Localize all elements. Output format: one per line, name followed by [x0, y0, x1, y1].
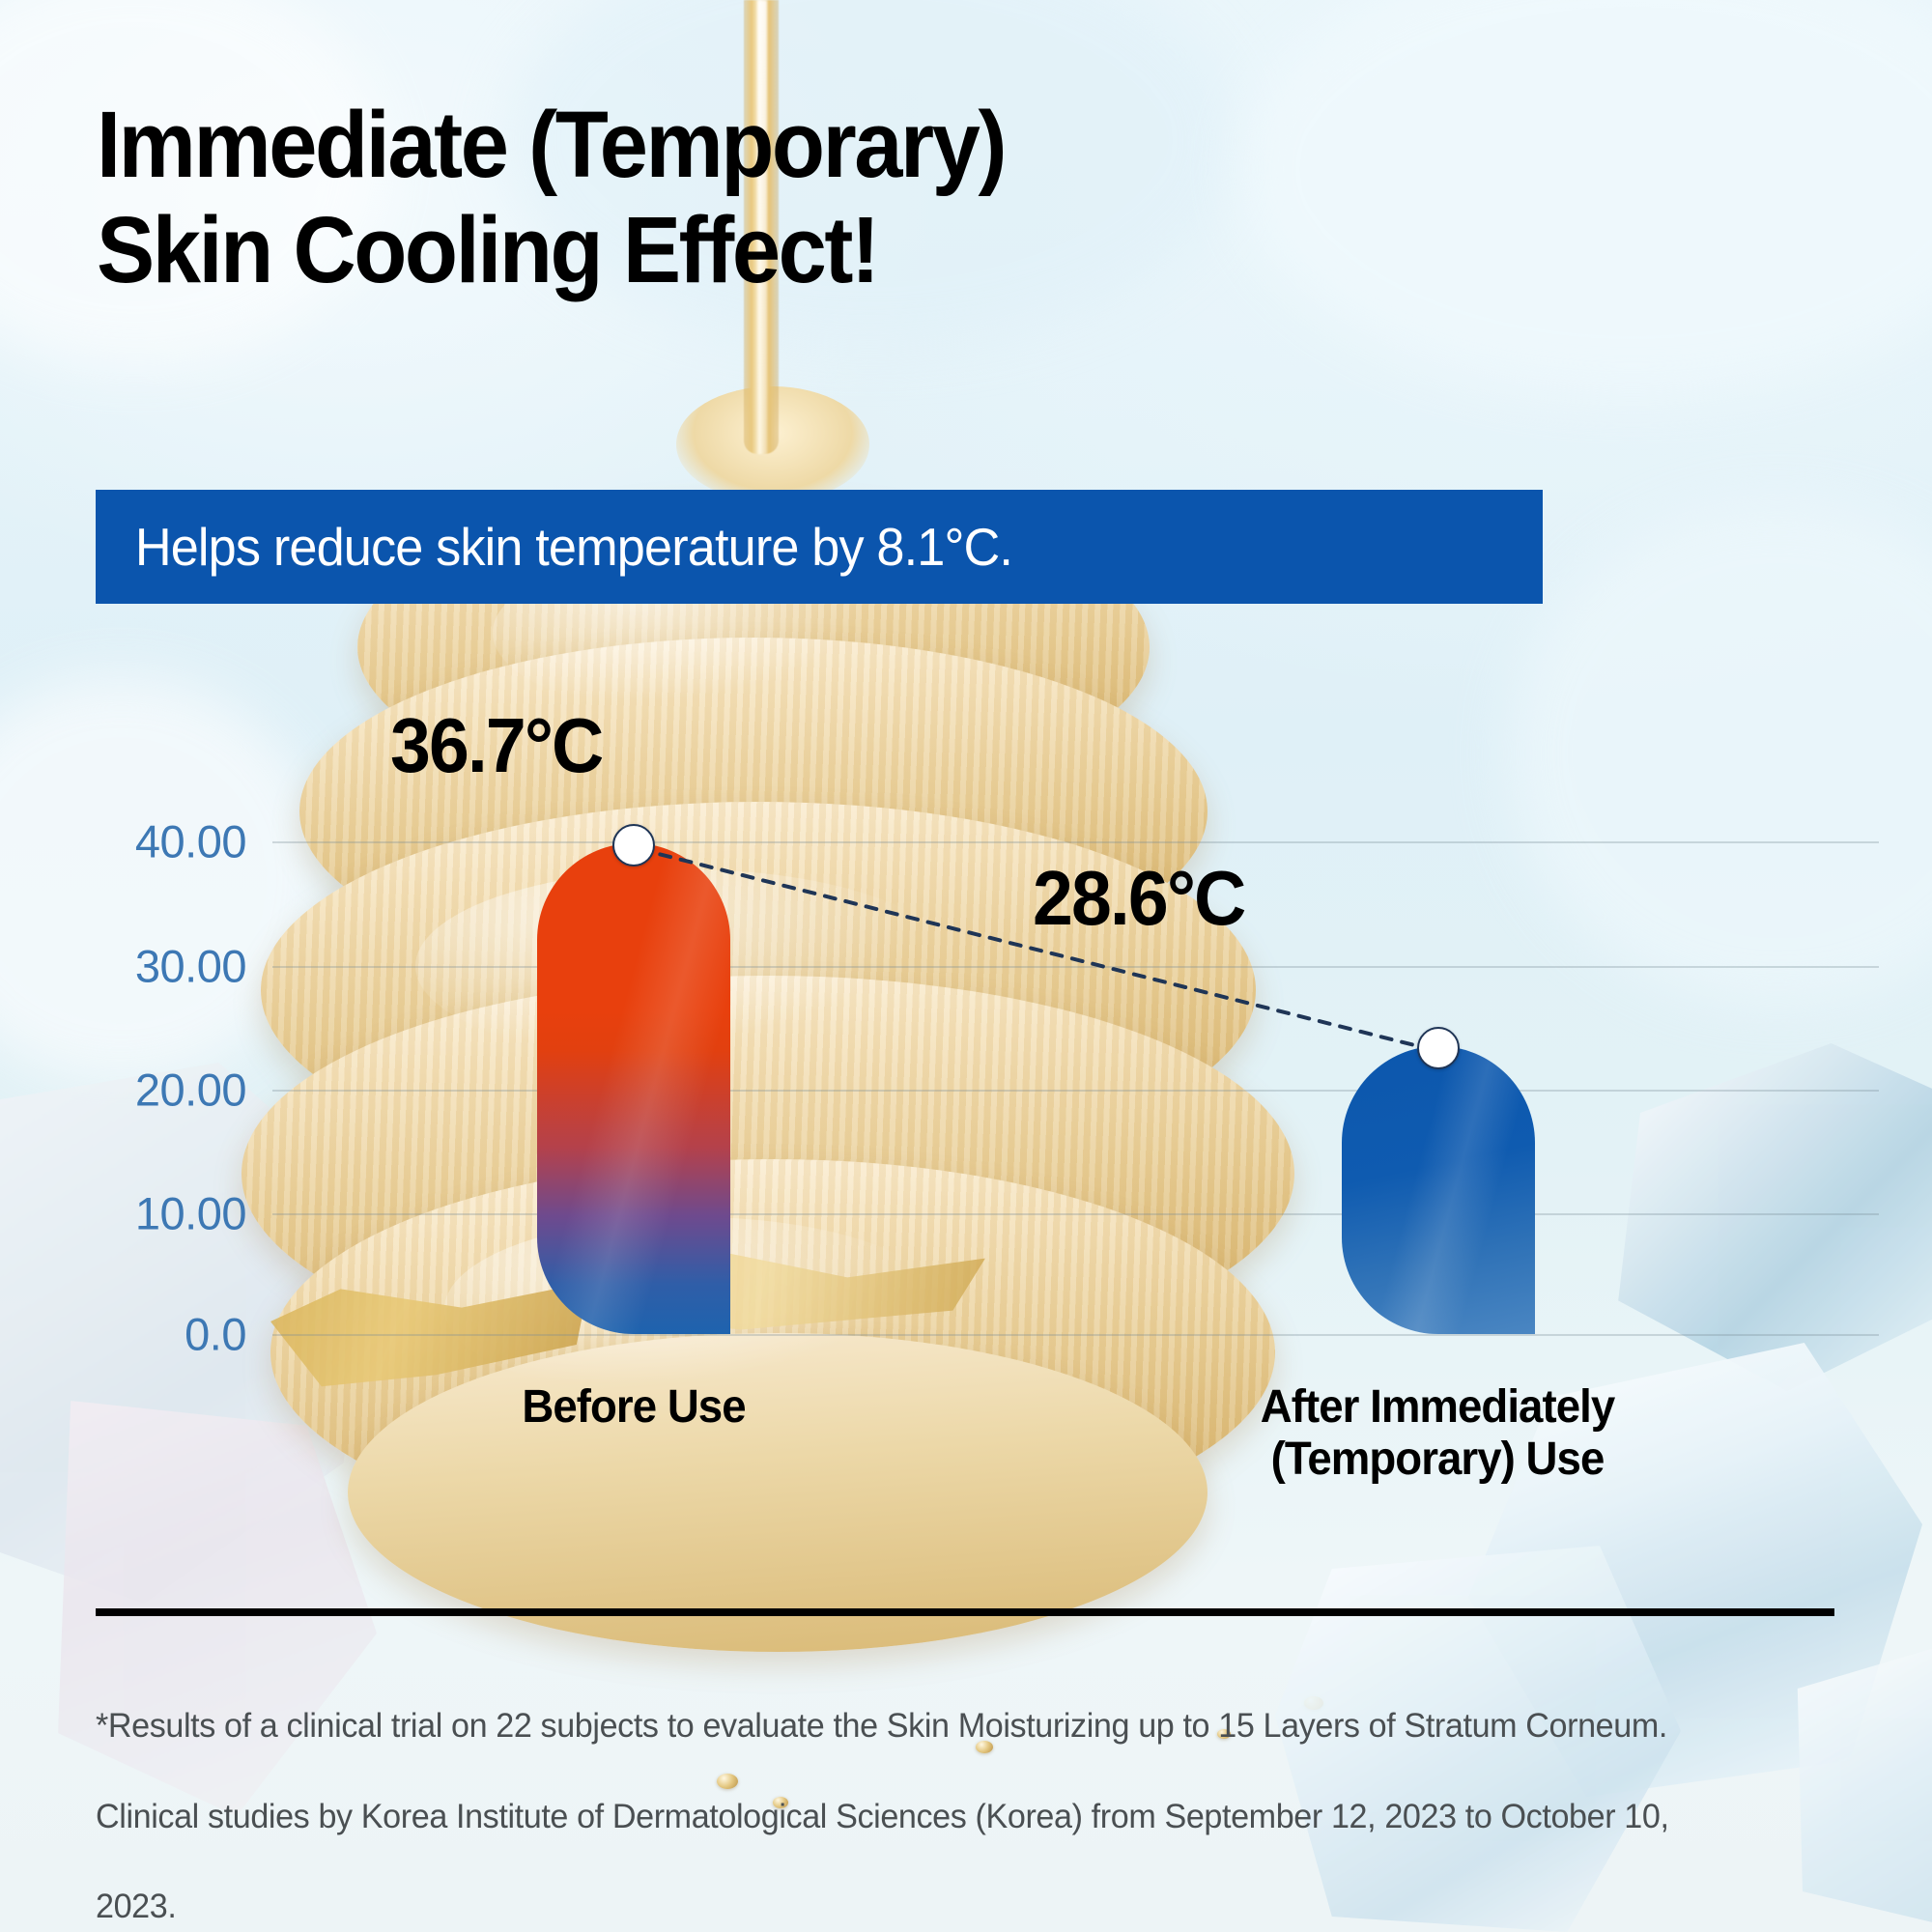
footnote-line-3: 2023. [96, 1885, 1781, 1930]
bar-after-immediately-use [1342, 1046, 1535, 1334]
footnote-line-1: *Results of a clinical trial on 22 subje… [96, 1704, 1781, 1749]
gridline-40 [272, 841, 1879, 843]
bar-sheen [1342, 1046, 1535, 1334]
infographic-canvas: Immediate (Temporary) Skin Cooling Effec… [0, 0, 1932, 1932]
x-axis-label-after-use: After Immediately (Temporary) Use [1070, 1381, 1804, 1486]
data-point-marker-after [1417, 1027, 1460, 1069]
gridline-20 [272, 1090, 1879, 1092]
y-axis-tick-40: 40.00 [53, 815, 246, 868]
gridline-10 [272, 1213, 1879, 1215]
footnote-line-2: Clinical studies by Korea Institute of D… [96, 1795, 1781, 1840]
bar-sheen [537, 843, 730, 1334]
value-label-before: 36.7°C [390, 701, 602, 790]
gridline-30 [272, 966, 1879, 968]
x-axis-label-before-use: Before Use [358, 1381, 909, 1434]
value-label-after: 28.6°C [1033, 854, 1244, 943]
y-axis-tick-10: 10.00 [53, 1187, 246, 1240]
y-axis-tick-30: 30.00 [53, 940, 246, 993]
y-axis-tick-0: 0.0 [53, 1308, 246, 1361]
bar-chart: 40.00 30.00 20.00 10.00 0.0 36.7°C 28.6°… [0, 0, 1932, 1932]
bar-before-use [537, 843, 730, 1334]
footnote-block: *Results of a clinical trial on 22 subje… [96, 1659, 1781, 1932]
y-axis-tick-20: 20.00 [53, 1064, 246, 1117]
horizontal-divider [96, 1608, 1834, 1616]
gridline-0 [272, 1334, 1879, 1336]
data-point-marker-before [612, 824, 655, 867]
